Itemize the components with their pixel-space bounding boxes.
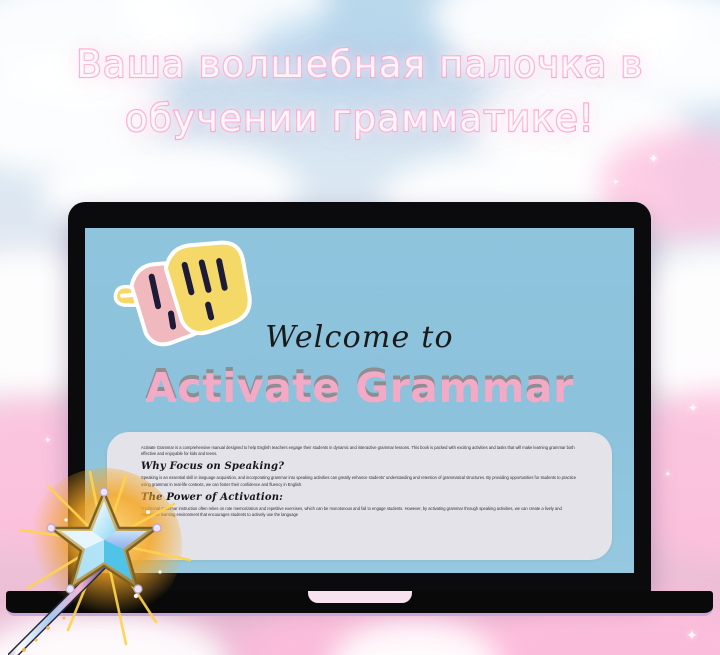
- cloud: [0, 0, 200, 100]
- section-body-activation: Traditional grammar instruction often re…: [141, 506, 578, 518]
- cloud: [250, 10, 450, 90]
- welcome-text: Welcome to: [85, 320, 634, 355]
- headline-line-2: обучении грамматике!: [0, 92, 720, 146]
- cloud: [0, 610, 230, 655]
- laptop-base-notch: [308, 591, 412, 603]
- content-card: Activate Grammar is a comprehensive manu…: [107, 432, 612, 560]
- section-heading-speaking: Why Focus on Speaking?: [141, 460, 578, 473]
- sparkle-icon: ✦: [664, 470, 672, 479]
- sparkle-icon: ✦: [22, 330, 29, 338]
- poster-canvas: ✦ ✦ ✦ ✦ ✦ ✦ ✦ Ваша волшебная палочка в о…: [0, 0, 720, 655]
- laptop-screen: Welcome to Activate Grammar Activate Gra…: [85, 228, 634, 573]
- cloud: [600, 0, 720, 108]
- cloud: [430, 0, 690, 88]
- brand-title: Activate Grammar Activate Grammar: [85, 360, 634, 412]
- sparkle-icon: ✦: [686, 628, 698, 642]
- page-title: Ваша волшебная палочка в обучении грамма…: [0, 38, 720, 146]
- sparkle-icon: ✦: [44, 436, 52, 445]
- cloud: [0, 55, 170, 175]
- laptop-mockup: Welcome to Activate Grammar Activate Gra…: [68, 202, 651, 614]
- headline-line-1: Ваша волшебная палочка в: [0, 38, 720, 92]
- sparkle-icon: ✦: [688, 402, 698, 414]
- cloud: [330, 620, 500, 655]
- laptop-lid: Welcome to Activate Grammar Activate Gra…: [68, 202, 651, 594]
- laptop-base: [6, 591, 713, 616]
- intro-paragraph: Activate Grammar is a comprehensive manu…: [141, 445, 578, 457]
- brand-title-main: Activate Grammar: [85, 364, 634, 412]
- cloud: [120, 0, 330, 62]
- section-body-speaking: Speaking is an essential skill in langua…: [141, 475, 578, 487]
- cloud: [470, 70, 690, 185]
- sparkle-icon: ✦: [648, 152, 659, 165]
- section-heading-activation: The Power of Activation:: [141, 491, 578, 504]
- sparkle-icon: ✦: [612, 178, 620, 187]
